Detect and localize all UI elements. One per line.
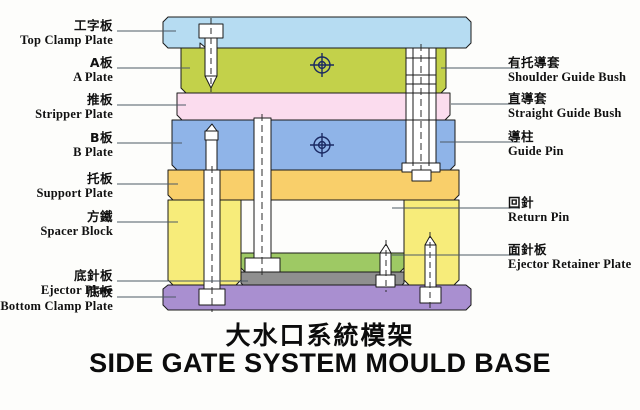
label-cn: 回針 <box>508 196 569 210</box>
label-guide-pin: 導柱 Guide Pin <box>508 130 564 159</box>
label-top-clamp-plate: 工字板 Top Clamp Plate <box>20 19 113 48</box>
label-cn: 直導套 <box>508 92 622 106</box>
label-straight-guide-bush: 直導套 Straight Guide Bush <box>508 92 622 121</box>
diagram-canvas: 工字板 Top Clamp Plate A板 A Plate 推板 Stripp… <box>0 0 640 410</box>
support-plate-screw-head <box>412 170 431 181</box>
label-en: Top Clamp Plate <box>20 33 113 48</box>
cap-screw-shank-b <box>206 140 217 170</box>
label-en: B Plate <box>73 145 113 160</box>
label-en: Shoulder Guide Bush <box>508 70 626 85</box>
label-en: A Plate <box>73 70 113 85</box>
label-cn: A板 <box>73 56 113 70</box>
label-cn: 托板 <box>36 172 113 186</box>
cap-screw-head-b <box>205 131 218 140</box>
label-en: Stripper Plate <box>35 107 113 122</box>
label-cn: 導柱 <box>508 130 564 144</box>
label-en: Spacer Block <box>40 224 113 239</box>
label-b-plate: B板 B Plate <box>73 131 113 160</box>
label-cn: 推板 <box>35 93 113 107</box>
label-ejector-retainer-plate: 面針板 Ejector Retainer Plate <box>508 243 631 272</box>
label-en: Support Plate <box>36 186 113 201</box>
label-en: Guide Pin <box>508 144 564 159</box>
label-en: Bottom Clamp Plate <box>0 299 113 314</box>
title-english: SIDE GATE SYSTEM MOULD BASE <box>0 348 640 379</box>
label-cn: 有托導套 <box>508 56 626 70</box>
label-en: Return Pin <box>508 210 569 225</box>
label-cn: 底板 <box>0 285 113 299</box>
label-cn: 面針板 <box>508 243 631 257</box>
label-en: Ejector Retainer Plate <box>508 257 631 272</box>
label-support-plate: 托板 Support Plate <box>36 172 113 201</box>
label-cn: B板 <box>73 131 113 145</box>
label-shoulder-guide-bush: 有托導套 Shoulder Guide Bush <box>508 56 626 85</box>
label-cn: 底針板 <box>41 269 113 283</box>
title-chinese: 大水口系統模架 <box>0 316 640 352</box>
label-stripper-plate: 推板 Stripper Plate <box>35 93 113 122</box>
label-spacer-block: 方鐵 Spacer Block <box>40 210 113 239</box>
label-en: Straight Guide Bush <box>508 106 622 121</box>
label-return-pin: 回針 Return Pin <box>508 196 569 225</box>
label-cn: 方鐵 <box>40 210 113 224</box>
label-bottom-clamp-plate: 底板 Bottom Clamp Plate <box>0 285 113 314</box>
label-a-plate: A板 A Plate <box>73 56 113 85</box>
label-cn: 工字板 <box>20 19 113 33</box>
